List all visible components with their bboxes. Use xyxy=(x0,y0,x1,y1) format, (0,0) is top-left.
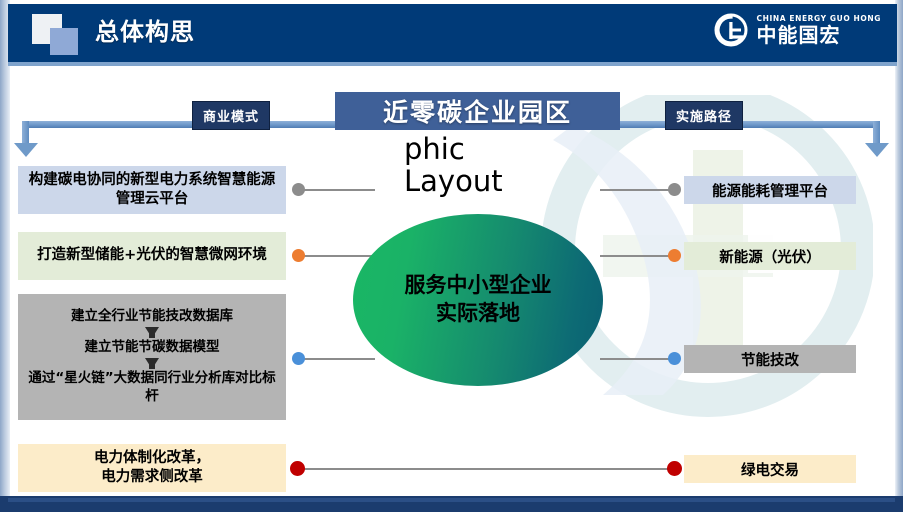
label-implementation-path: 实施路径 xyxy=(665,101,743,130)
header-accent-line xyxy=(8,62,897,66)
left-flow-bar xyxy=(22,121,335,128)
connector-dot-right-3 xyxy=(668,352,681,365)
right-item-label-1: 能源能耗管理平台 xyxy=(712,180,828,201)
left-item-box-1[interactable]: 构建碳电协同的新型电力系统智慧能源管理云平台 xyxy=(18,166,286,214)
connector-line-1-left xyxy=(300,189,375,191)
label-business-model: 商业模式 xyxy=(192,101,270,130)
left-item-3-line-3: 通过“星火链”大数据同行业分析库对比标杆 xyxy=(26,370,278,406)
right-item-label-4: 绿电交易 xyxy=(741,459,799,480)
logo-english-text: CHINA ENERGY GUO HONG xyxy=(756,15,881,23)
slide-canvas: 总体构思 CHINA ENERGY GUO HONG 中能国宏 商业模式 实施路… xyxy=(0,0,903,512)
right-item-label-2: 新能源（光伏） xyxy=(719,246,821,267)
left-item-label-2: 打造新型储能+光伏的智慧微网环境 xyxy=(37,246,267,265)
left-item-box-4[interactable]: 电力体制化改革， 电力需求侧改革 xyxy=(18,444,286,492)
header-square-blue-icon xyxy=(50,28,78,55)
main-title-banner: 近零碳企业园区 xyxy=(335,92,620,130)
connector-dot-right-1 xyxy=(668,183,681,196)
right-item-box-4[interactable]: 绿电交易 xyxy=(684,455,856,483)
down-arrow-icon-1 xyxy=(145,327,159,338)
left-item-box-3[interactable]: 建立全行业节能技改数据库 建立节能节碳数据模型 通过“星火链”大数据同行业分析库… xyxy=(18,294,286,420)
left-flow-arrow-icon xyxy=(14,143,38,157)
connector-line-2-left xyxy=(300,255,375,257)
right-flow-arrow-icon xyxy=(865,143,889,157)
page-title: 总体构思 xyxy=(95,12,195,47)
connector-dot-left-3 xyxy=(292,352,305,365)
center-ellipse-line2: 实际落地 xyxy=(436,300,520,328)
left-item-3-line-1: 建立全行业节能技改数据库 xyxy=(71,308,233,326)
left-item-3-line-2: 建立节能节碳数据模型 xyxy=(85,339,220,357)
connector-dot-left-4 xyxy=(290,461,305,476)
left-flow-bar-tick xyxy=(22,121,29,143)
logo-chinese-text: 中能国宏 xyxy=(756,25,881,45)
right-item-box-1[interactable]: 能源能耗管理平台 xyxy=(684,176,856,204)
down-arrow-icon-2 xyxy=(145,358,159,369)
slide-left-edge xyxy=(0,0,10,512)
right-item-box-2[interactable]: 新能源（光伏） xyxy=(684,242,856,270)
connector-dot-left-1 xyxy=(292,183,305,196)
connector-line-4-left xyxy=(300,468,675,470)
slide-right-edge xyxy=(895,0,903,512)
connector-line-3-left xyxy=(300,358,375,360)
left-item-box-2[interactable]: 打造新型储能+光伏的智慧微网环境 xyxy=(18,232,286,280)
right-flow-bar-tick xyxy=(873,121,880,143)
right-flow-bar xyxy=(620,121,880,128)
company-logo: CHINA ENERGY GUO HONG 中能国宏 xyxy=(714,10,881,50)
logo-mark-icon xyxy=(714,13,748,47)
left-item-label-1: 构建碳电协同的新型电力系统智慧能源管理云平台 xyxy=(26,171,278,209)
slide-bottom-accent xyxy=(8,498,895,502)
connector-dot-right-2 xyxy=(668,249,681,262)
connector-dot-right-4 xyxy=(667,461,682,476)
center-ellipse: 服务中小型企业 实际落地 xyxy=(353,214,603,386)
stray-placeholder-text: phic Layout xyxy=(404,133,503,198)
right-item-label-3: 节能技改 xyxy=(741,349,799,370)
connector-dot-left-2 xyxy=(292,249,305,262)
right-item-box-3[interactable]: 节能技改 xyxy=(684,345,856,373)
center-ellipse-line1: 服务中小型企业 xyxy=(405,272,552,300)
left-item-label-4: 电力体制化改革， 电力需求侧改革 xyxy=(94,449,210,487)
